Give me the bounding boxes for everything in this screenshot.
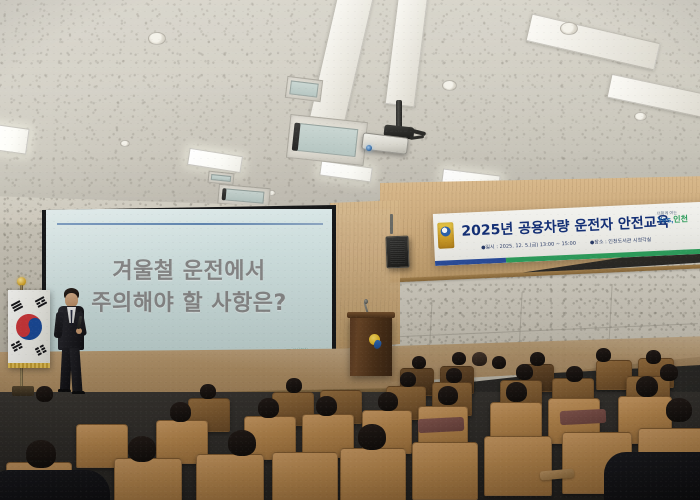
banner-emblem-left [437, 222, 454, 249]
audience-head [316, 396, 337, 416]
presenter-shoe [58, 389, 71, 392]
audience-member [452, 352, 466, 365]
audience-head [286, 378, 302, 393]
audience-member [316, 396, 337, 416]
audience-head [472, 352, 487, 366]
ceiling-ac-cassette [286, 114, 368, 166]
audience-member [358, 424, 386, 450]
audience-head [446, 368, 462, 383]
trigram-gam [11, 340, 24, 352]
audience-member [228, 430, 256, 456]
seat-cushion [560, 409, 607, 425]
banner-city-slogan: 더함께 여는 Yes,인천 [657, 210, 700, 238]
audience-member [36, 386, 53, 402]
audience-member [596, 348, 611, 362]
audience-head [636, 376, 658, 397]
audience-member [446, 368, 462, 383]
audience-member [438, 386, 458, 405]
audience-head [26, 440, 56, 468]
podium-lectern [350, 316, 392, 376]
audience-member [170, 402, 191, 422]
ceiling-troffer-light [0, 123, 30, 154]
flag-fringe [8, 363, 50, 368]
auditorium-seat[interactable] [484, 436, 552, 496]
audience-member [472, 352, 487, 366]
ac-grille [224, 188, 265, 204]
ac-grille [295, 123, 358, 158]
speaker-bracket [390, 214, 393, 234]
audience-head [200, 384, 216, 399]
ceiling-ac-cassette [285, 76, 323, 102]
lectern-top-surface [347, 312, 395, 318]
auditorium-seat[interactable] [272, 452, 338, 500]
audience-member [636, 376, 658, 397]
seat-cushion [418, 417, 465, 433]
audience-member [378, 392, 398, 411]
auditorium-seat[interactable] [196, 454, 264, 500]
banner-datetime: ●일시 : 2025. 12. 5.(금) 13:00 ~ 15:00 [481, 239, 576, 250]
audience-head [358, 424, 386, 450]
audience-member [566, 366, 583, 382]
auditorium-photo: 겨울철 운전에서 주의해야 할 사항은? 인천광역시 2025년 공용차량 운전… [0, 0, 700, 500]
slogan-yes: Yes, [657, 215, 673, 225]
audience-member [646, 350, 661, 364]
audience-head [400, 372, 416, 387]
audience-head [660, 364, 678, 381]
audience-member [412, 356, 426, 369]
auditorium-seat[interactable] [412, 442, 478, 500]
recessed-downlight [120, 140, 130, 147]
slogan-main: Yes,인천 [657, 215, 700, 226]
audience-member [128, 436, 156, 462]
recessed-downlight [148, 32, 166, 45]
slide-accent-line [57, 223, 323, 225]
recessed-downlight [442, 80, 457, 91]
recessed-downlight [634, 112, 647, 121]
audience-head [516, 364, 533, 380]
wall-speaker [385, 236, 409, 269]
banner-venue: ●장소 : 인천도서관 시청각실 [590, 236, 652, 246]
presenter-leg-right [69, 348, 82, 394]
ac-grille [211, 174, 231, 183]
projector-lens [366, 145, 372, 151]
taeguk-symbol [11, 310, 46, 345]
audience-member [26, 440, 56, 468]
audience-head [666, 398, 692, 422]
slogan-incheon: 인천 [673, 214, 688, 224]
audience-member [258, 398, 279, 418]
audience-head [566, 366, 583, 382]
audience-head [596, 348, 611, 362]
presenter-shoe [72, 391, 85, 394]
audience-head [36, 386, 53, 402]
audience-member [506, 382, 527, 402]
audience-head [258, 398, 279, 418]
trigram-gon [35, 344, 48, 356]
audience-member [660, 364, 678, 381]
lectern-emblem [369, 334, 382, 349]
trigram-geon [11, 300, 24, 312]
ac-grille [290, 81, 319, 98]
foreground-silhouette [0, 470, 110, 500]
korean-national-flag [8, 290, 50, 368]
lectern-microphone-head [364, 299, 368, 304]
foreground-silhouette [604, 452, 700, 500]
audience-head [438, 386, 458, 405]
recessed-downlight [560, 22, 578, 35]
audience-head [646, 350, 661, 364]
audience-head [452, 352, 466, 365]
audience-head [492, 356, 506, 369]
audience-member [400, 372, 416, 387]
audience-member [286, 378, 302, 393]
audience-head [506, 382, 527, 402]
audience-member [516, 364, 533, 380]
auditorium-seat[interactable] [340, 448, 406, 500]
auditorium-seat[interactable] [114, 458, 182, 500]
trigram-ri [35, 296, 48, 308]
audience-head [228, 430, 256, 456]
audience-head [170, 402, 191, 422]
flag-stand-base [12, 386, 34, 396]
audience-head [412, 356, 426, 369]
event-banner: 2025년 공용차량 운전자 안전교육 ●일시 : 2025. 12. 5.(금… [433, 202, 700, 266]
emblem-shape-blue [373, 339, 383, 350]
audience-member [200, 384, 216, 399]
presenter [52, 288, 92, 398]
audience-head [378, 392, 398, 411]
presenter-head [65, 293, 78, 307]
audience-head [128, 436, 156, 462]
audience-member [666, 398, 692, 422]
audience-member [492, 356, 506, 369]
slide-line-1: 겨울철 운전에서 [46, 256, 332, 287]
